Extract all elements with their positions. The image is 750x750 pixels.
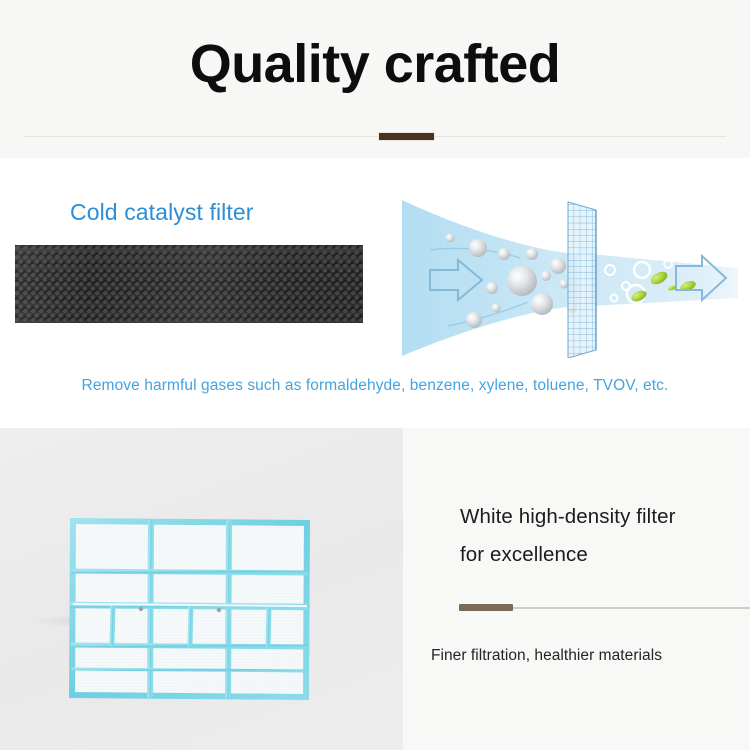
white-filter-text-panel: White high-density filter for excellence… — [403, 428, 750, 750]
product-detail-page: Quality crafted Cold catalyst filter — [0, 0, 750, 750]
white-filter-subtitle: Finer filtration, healthier materials — [431, 646, 750, 666]
page-header: Quality crafted — [0, 0, 750, 158]
white-filter-photo-panel — [0, 428, 403, 750]
cold-catalyst-caption: Remove harmful gases such as formaldehyd… — [0, 376, 750, 396]
white-filter-section: White high-density filter for excellence… — [0, 428, 750, 750]
cold-catalyst-title: Cold catalyst filter — [70, 198, 254, 226]
mesh-filter-panel — [568, 202, 596, 358]
page-title: Quality crafted — [0, 34, 750, 94]
white-filter-heading-line-2: for excellence — [460, 536, 740, 574]
black-honeycomb-filter-image — [15, 245, 363, 323]
filter-sheen-overlay — [15, 245, 363, 323]
dirty-airflow-stream — [402, 200, 578, 356]
frame-tab — [139, 607, 143, 611]
white-filter-heading-line-1: White high-density filter — [460, 498, 740, 536]
white-filter-heading: White high-density filter for excellence — [460, 498, 740, 574]
white-filter-accent-bar — [459, 604, 513, 611]
white-high-density-filter-photo — [57, 509, 320, 705]
cold-catalyst-section: Cold catalyst filter — [0, 158, 750, 428]
frame-tab — [217, 608, 221, 612]
header-accent-bar — [378, 132, 435, 141]
air-filtration-diagram — [400, 198, 740, 358]
white-filter-rule-line — [513, 607, 750, 609]
header-divider-line — [24, 136, 726, 137]
